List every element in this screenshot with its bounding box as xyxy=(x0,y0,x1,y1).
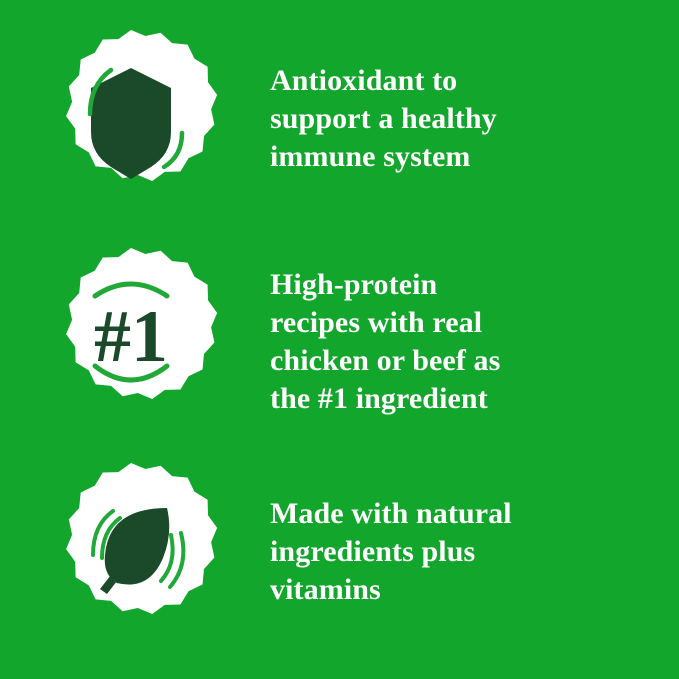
badge-number-one: #1 xyxy=(43,248,219,424)
feature-text-antioxidant: Antioxidant to support a healthy immune … xyxy=(270,62,497,176)
feature-row: #1 High-protein recipes with real chicke… xyxy=(0,248,679,428)
feature-row: Antioxidant to support a healthy immune … xyxy=(0,30,679,210)
number-one-label: #1 xyxy=(94,296,168,378)
feature-text-natural-ingredients: Made with natural ingredients plus vitam… xyxy=(270,495,512,609)
feature-infographic: Antioxidant to support a healthy immune … xyxy=(0,0,679,679)
feature-text-high-protein: High-protein recipes with real chicken o… xyxy=(270,266,500,418)
feature-row: Made with natural ingredients plus vitam… xyxy=(0,463,679,643)
badge-leaf xyxy=(43,463,219,639)
badge-shield xyxy=(43,30,219,206)
